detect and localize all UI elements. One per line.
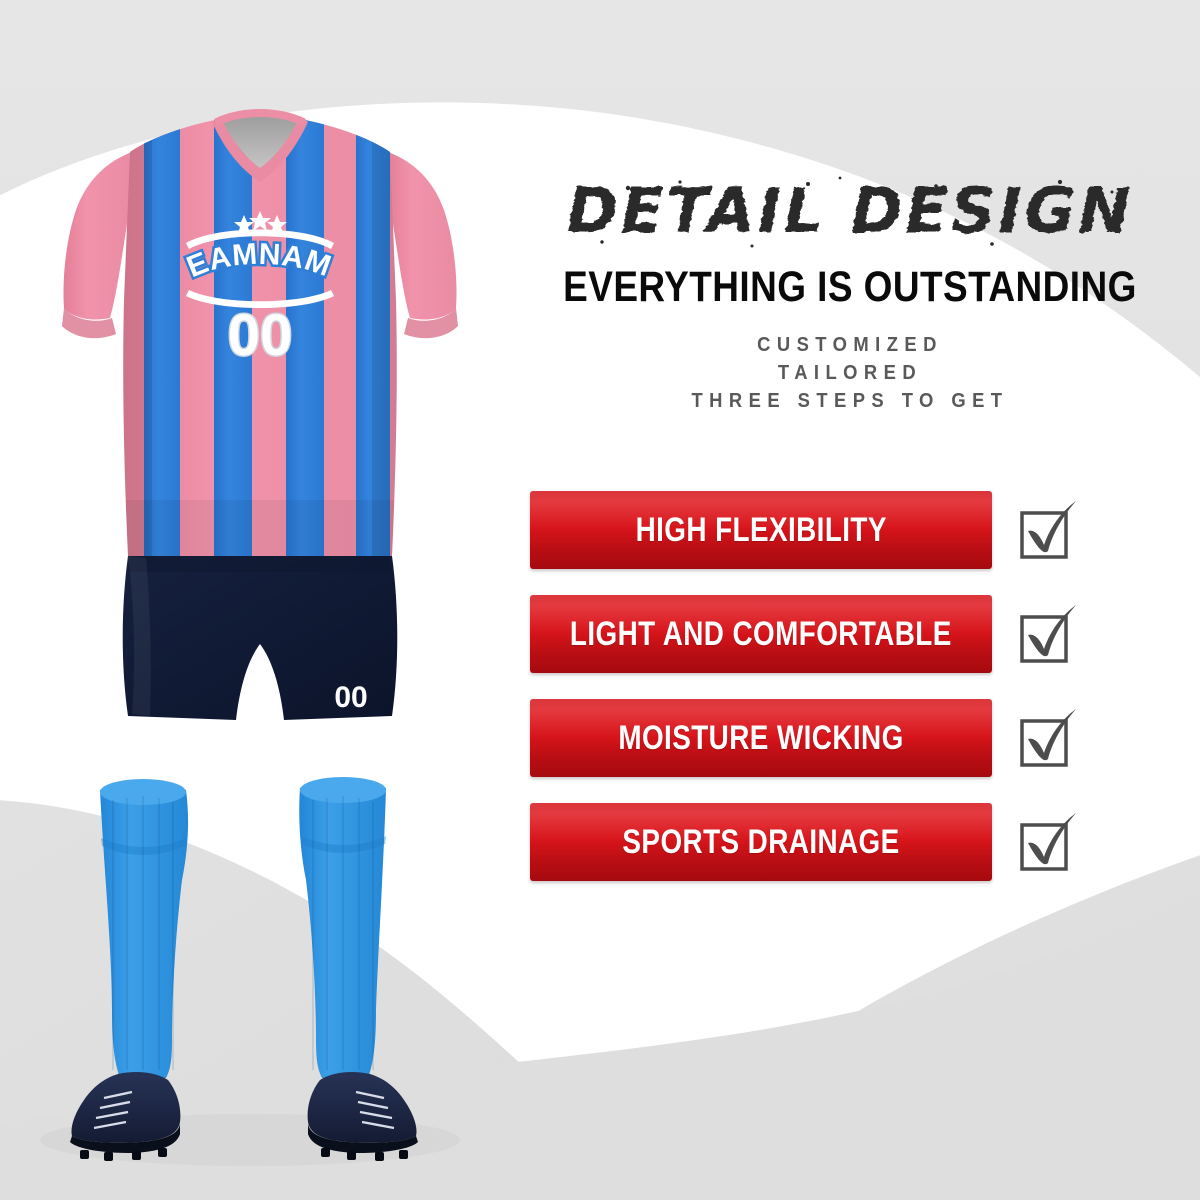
tagline-line-3: THREE STEPS TO GET	[528, 387, 1172, 415]
detail-design-title-text: DETAIL DESIGN	[567, 174, 1134, 247]
checkbox-checked-icon[interactable]	[1016, 811, 1078, 873]
jersey-number: 00	[228, 303, 293, 368]
jersey-sleeve-left	[64, 152, 133, 320]
jersey: TEAMNAME 00	[0, 0, 458, 580]
feature-banner-moisture-wicking[interactable]: MOISTURE WICKING	[530, 699, 992, 777]
tagline-line-1: CUSTOMIZED	[528, 331, 1172, 359]
uniform-kit-illustration: TEAMNAME 00 00	[0, 0, 520, 1200]
checkbox-checked-icon[interactable]	[1016, 499, 1078, 561]
checkbox-checked-icon[interactable]	[1016, 603, 1078, 665]
marketing-copy-panel: DETAIL DESIGN EVERYTHING IS OUTSTANDING …	[500, 0, 1200, 1200]
feature-banner-sports-drainage[interactable]: SPORTS DRAINAGE	[530, 803, 992, 881]
socks	[100, 777, 386, 1078]
feature-label: LIGHT AND COMFORTABLE	[570, 615, 952, 654]
feature-row: SPORTS DRAINAGE	[500, 790, 1200, 894]
shoe-left	[72, 1072, 181, 1143]
product-marketing-banner: TEAMNAME 00 00	[0, 0, 1200, 1200]
headline-block: DETAIL DESIGN EVERYTHING IS OUTSTANDING …	[500, 168, 1200, 415]
feature-row: MOISTURE WICKING	[500, 686, 1200, 790]
feature-row: HIGH FLEXIBILITY	[500, 478, 1200, 582]
shoes	[70, 1072, 418, 1161]
uniform-kit-image: TEAMNAME 00 00	[0, 0, 520, 1200]
jersey-sleeve-right	[388, 152, 457, 320]
feature-label: MOISTURE WICKING	[618, 719, 903, 758]
checkbox-checked-icon[interactable]	[1016, 707, 1078, 769]
shorts-waistband	[129, 556, 391, 572]
detail-design-title-svg: DETAIL DESIGN	[540, 168, 1160, 254]
feature-list: HIGH FLEXIBILITY LIGHT AND COMFORTABLE	[500, 478, 1200, 894]
tagline-line-2: TAILORED	[528, 359, 1172, 387]
feature-banner-high-flexibility[interactable]: HIGH FLEXIBILITY	[530, 491, 992, 569]
shorts-number: 00	[334, 681, 367, 714]
shoe-right	[308, 1072, 417, 1143]
feature-label: SPORTS DRAINAGE	[622, 823, 899, 862]
feature-banner-light-and-comfortable[interactable]: LIGHT AND COMFORTABLE	[530, 595, 992, 673]
shorts: 00	[123, 556, 398, 720]
tagline-block: CUSTOMIZED TAILORED THREE STEPS TO GET	[500, 331, 1200, 415]
feature-row: LIGHT AND COMFORTABLE	[500, 582, 1200, 686]
headline-subtitle: EVERYTHING IS OUTSTANDING	[549, 266, 1151, 309]
detail-design-title: DETAIL DESIGN	[500, 168, 1200, 254]
feature-label: HIGH FLEXIBILITY	[635, 511, 886, 550]
